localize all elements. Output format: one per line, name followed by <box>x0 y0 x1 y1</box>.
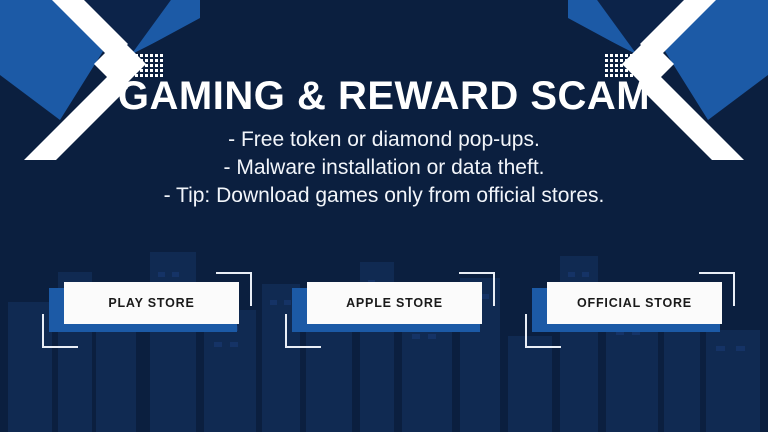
bullet-list: - Free token or diamond pop-ups. - Malwa… <box>0 126 768 210</box>
store-button-row: PLAY STORE APPLE STORE OFFICIAL STORE <box>0 270 768 360</box>
bullet-line-2: - Malware installation or data theft. <box>0 154 768 182</box>
button-label: APPLE STORE <box>346 296 443 310</box>
page-title: GAMING & REWARD SCAM <box>0 74 768 118</box>
button-card[interactable]: OFFICIAL STORE <box>547 282 722 324</box>
bullet-line-1: - Free token or diamond pop-ups. <box>0 126 768 154</box>
button-card[interactable]: PLAY STORE <box>64 282 239 324</box>
poster-canvas: GAMING & REWARD SCAM - Free token or dia… <box>0 0 768 432</box>
play-store-button[interactable]: PLAY STORE <box>42 270 262 350</box>
button-card[interactable]: APPLE STORE <box>307 282 482 324</box>
button-label: PLAY STORE <box>108 296 194 310</box>
apple-store-button[interactable]: APPLE STORE <box>285 270 505 350</box>
official-store-button[interactable]: OFFICIAL STORE <box>525 270 745 350</box>
button-label: OFFICIAL STORE <box>577 296 692 310</box>
bullet-line-3: - Tip: Download games only from official… <box>0 182 768 210</box>
